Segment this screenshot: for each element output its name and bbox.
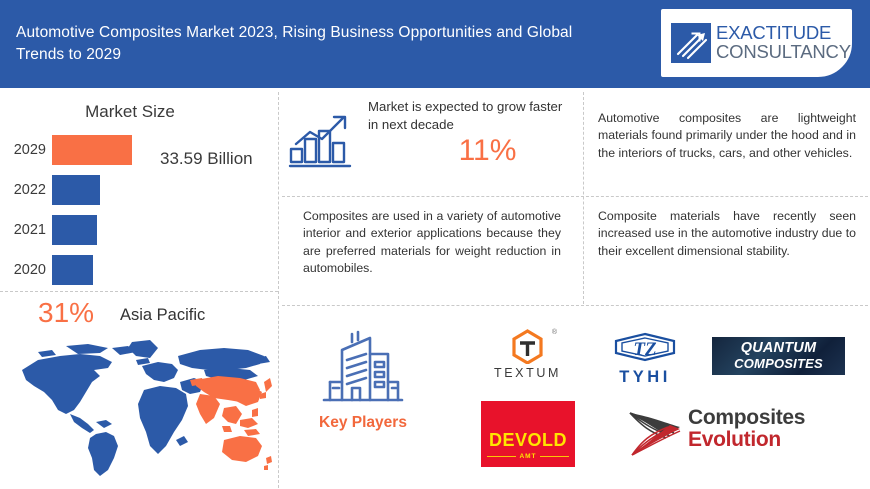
chart-bar-2022 (52, 175, 100, 205)
brand-logo-text: EXACTITUDE CONSULTANCY (716, 24, 851, 62)
page-title: Automotive Composites Market 2023, Risin… (16, 22, 616, 66)
key-players-panel: Key Players (288, 330, 438, 455)
textum-name: TEXTUM (480, 366, 575, 380)
quantum-line1: QUANTUM (741, 341, 817, 356)
growth-text: Market is expected to grow faster in nex… (368, 98, 568, 133)
growth-panel: Market is expected to grow faster in nex… (280, 92, 580, 194)
brand-logo: EXACTITUDE CONSULTANCY (659, 7, 854, 79)
chart-category-label: 2022 (0, 182, 52, 198)
chart-category-label: 2021 (0, 222, 52, 238)
tz-hexagon-icon: TZ (600, 332, 690, 362)
svg-text:TZ: TZ (633, 339, 657, 360)
chart-bar-2020 (52, 255, 93, 285)
devold-sub: AMT (487, 453, 569, 460)
ce-line2: Evolution (688, 429, 805, 451)
office-building-icon (316, 330, 408, 408)
tyhi-name: TYHI (600, 368, 690, 387)
insight-bottom-right: Composite materials have recently seen i… (598, 208, 856, 260)
asia-pacific-highlight (190, 376, 272, 470)
chart-category-label: 2020 (0, 262, 52, 278)
textum-mark: ® (480, 328, 575, 364)
divider-vertical-left (278, 92, 279, 488)
divider-horizontal-mid (282, 196, 868, 197)
chart-value-label: 33.59 Billion (160, 148, 270, 170)
devold-rule-right (540, 456, 569, 457)
chart-bar-row: 2021 (0, 210, 278, 250)
registered-mark: ® (552, 329, 557, 336)
logo-composites-evolution: Composites Evolution (626, 405, 811, 463)
region-name: Asia Pacific (120, 306, 205, 325)
world-map (8, 336, 274, 481)
market-size-chart: Market Size 2029 2022 2021 2020 33.59 Bi… (0, 90, 278, 290)
chart-bar-row: 2022 (0, 170, 278, 210)
upward-arrows-icon (671, 23, 711, 63)
insight-bottom-left: Composites are used in a variety of auto… (303, 208, 561, 278)
chart-category-label: 2029 (0, 142, 52, 158)
chart-bar-row: 2020 (0, 250, 278, 290)
devold-name: DEVOLD (489, 430, 567, 451)
logo-devold: DEVOLD AMT (481, 401, 575, 467)
logo-textum: ® TEXTUM (480, 328, 575, 386)
hexagon-t-icon (480, 328, 575, 364)
composites-evolution-text: Composites Evolution (688, 407, 805, 451)
devold-amt: AMT (516, 453, 539, 460)
chart-bar-2021 (52, 215, 97, 245)
fan-icon (626, 409, 688, 459)
header-banner: Automotive Composites Market 2023, Risin… (0, 0, 870, 88)
region-percent: 31% (38, 297, 94, 329)
divider-horizontal-lower (282, 305, 868, 306)
quantum-line2: COMPOSITES (734, 356, 823, 371)
infographic-page: Automotive Composites Market 2023, Risin… (0, 0, 870, 489)
region-panel: 31% Asia Pacific (0, 292, 278, 489)
logo-tyhi: TZ TYHI (600, 332, 690, 384)
brand-name-line2: CONSULTANCY (716, 43, 851, 62)
divider-vertical-right (583, 92, 584, 304)
chart-title: Market Size (0, 102, 260, 122)
logo-quantum-composites: QUANTUM COMPOSITES (712, 337, 845, 375)
ce-line1: Composites (688, 407, 805, 429)
insight-top-right: Automotive composites are lightweight ma… (598, 110, 856, 162)
devold-rule-left (487, 456, 516, 457)
growth-percent: 11% (400, 134, 575, 168)
key-players-label: Key Players (288, 414, 438, 432)
growth-bar-chart-icon (288, 110, 354, 170)
chart-bar-2029 (52, 135, 132, 165)
